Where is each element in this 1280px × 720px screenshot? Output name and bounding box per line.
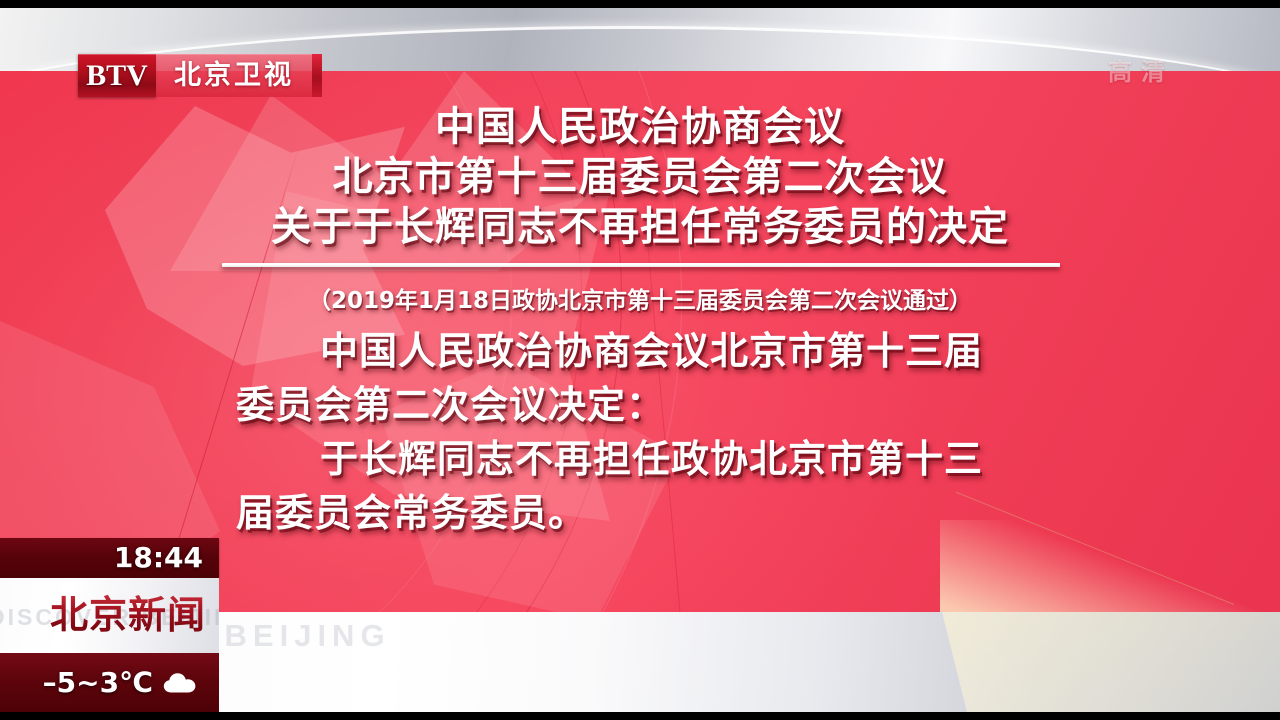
letterbox-top bbox=[0, 0, 1280, 8]
body-block: 中国人民政治协商会议北京市第十三届 委员会第二次会议决定： 于长辉同志不再担任政… bbox=[236, 324, 1052, 540]
clock-text: 18:44 bbox=[114, 544, 219, 572]
hd-badge: 高清 bbox=[1108, 52, 1174, 87]
channel-logo-name: 北京卫视 bbox=[156, 54, 312, 97]
body-line-2: 委员会第二次会议决定： bbox=[236, 378, 1052, 432]
program-band: DISCOVER BEIJING 北京新闻 bbox=[0, 578, 219, 653]
headline-line-2: 北京市第十三届委员会第二次会议 bbox=[0, 152, 1280, 202]
temperature-text: –5~3℃ bbox=[43, 669, 153, 697]
headline-subtitle: （2019年1月18日政协北京市第十三届委员会第二次会议通过） bbox=[0, 286, 1280, 316]
body-line-4: 届委员会常务委员。 bbox=[236, 486, 1052, 540]
body-line-1: 中国人民政治协商会议北京市第十三届 bbox=[236, 324, 1052, 378]
channel-logo: BTV 北京卫视 bbox=[78, 54, 322, 97]
headline-line-3: 关于于长辉同志不再担任常务委员的决定 bbox=[0, 202, 1280, 252]
broadcast-frame: DISCOVER BEIJING BTV 北京卫视 高清 中国人民政治协商会议 … bbox=[0, 0, 1280, 720]
headline-divider bbox=[222, 263, 1060, 267]
background-corner-wedge bbox=[936, 612, 1280, 712]
program-name: 北京新闻 bbox=[50, 592, 206, 638]
weather-band: –5~3℃ bbox=[0, 653, 219, 712]
channel-logo-name-text: 北京卫视 bbox=[174, 62, 294, 89]
clock-band: 18:44 bbox=[0, 538, 219, 578]
channel-logo-accent-bar bbox=[312, 54, 322, 97]
body-line-3: 于长辉同志不再担任政协北京市第十三 bbox=[236, 432, 1052, 486]
cloud-icon bbox=[163, 672, 197, 694]
channel-logo-mark: BTV bbox=[78, 54, 156, 97]
headline-line-1: 中国人民政治协商会议 bbox=[0, 102, 1280, 152]
channel-logo-mark-text: BTV bbox=[86, 61, 148, 91]
letterbox-bottom bbox=[0, 712, 1280, 720]
headline-block: 中国人民政治协商会议 北京市第十三届委员会第二次会议 关于于长辉同志不再担任常务… bbox=[0, 102, 1280, 252]
